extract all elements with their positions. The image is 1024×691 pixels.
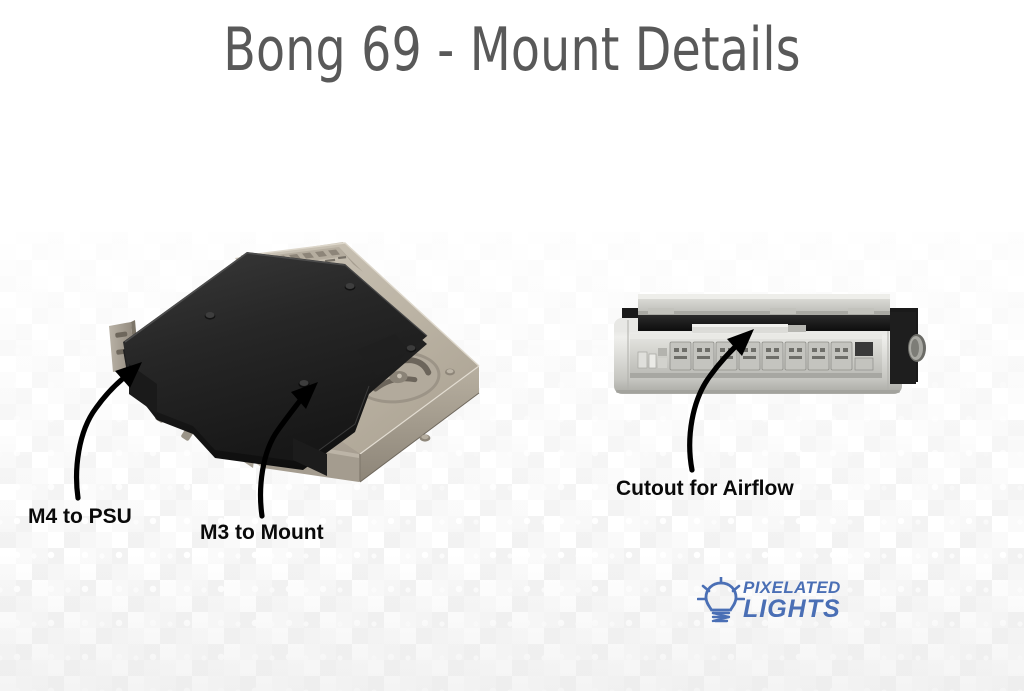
figure-mount-isometric: [95, 238, 485, 488]
airflow-cutout-target: [692, 324, 806, 333]
callout-label-cutout-airflow: Cutout for Airflow: [616, 477, 794, 501]
figure-mount-front: [602, 282, 932, 422]
brand-logo: PIXELATED LIGHTS: [697, 577, 847, 629]
slide-canvas: Bong 69 - Mount Details: [0, 0, 1024, 691]
callout-label-m4-to-psu: M4 to PSU: [28, 505, 132, 529]
callout-label-m3-to-mount: M3 to Mount: [200, 521, 324, 545]
logo-text-line2: LIGHTS: [743, 595, 841, 624]
lightbulb-icon: [697, 577, 745, 627]
slide-title: Bong 69 - Mount Details: [61, 14, 962, 86]
